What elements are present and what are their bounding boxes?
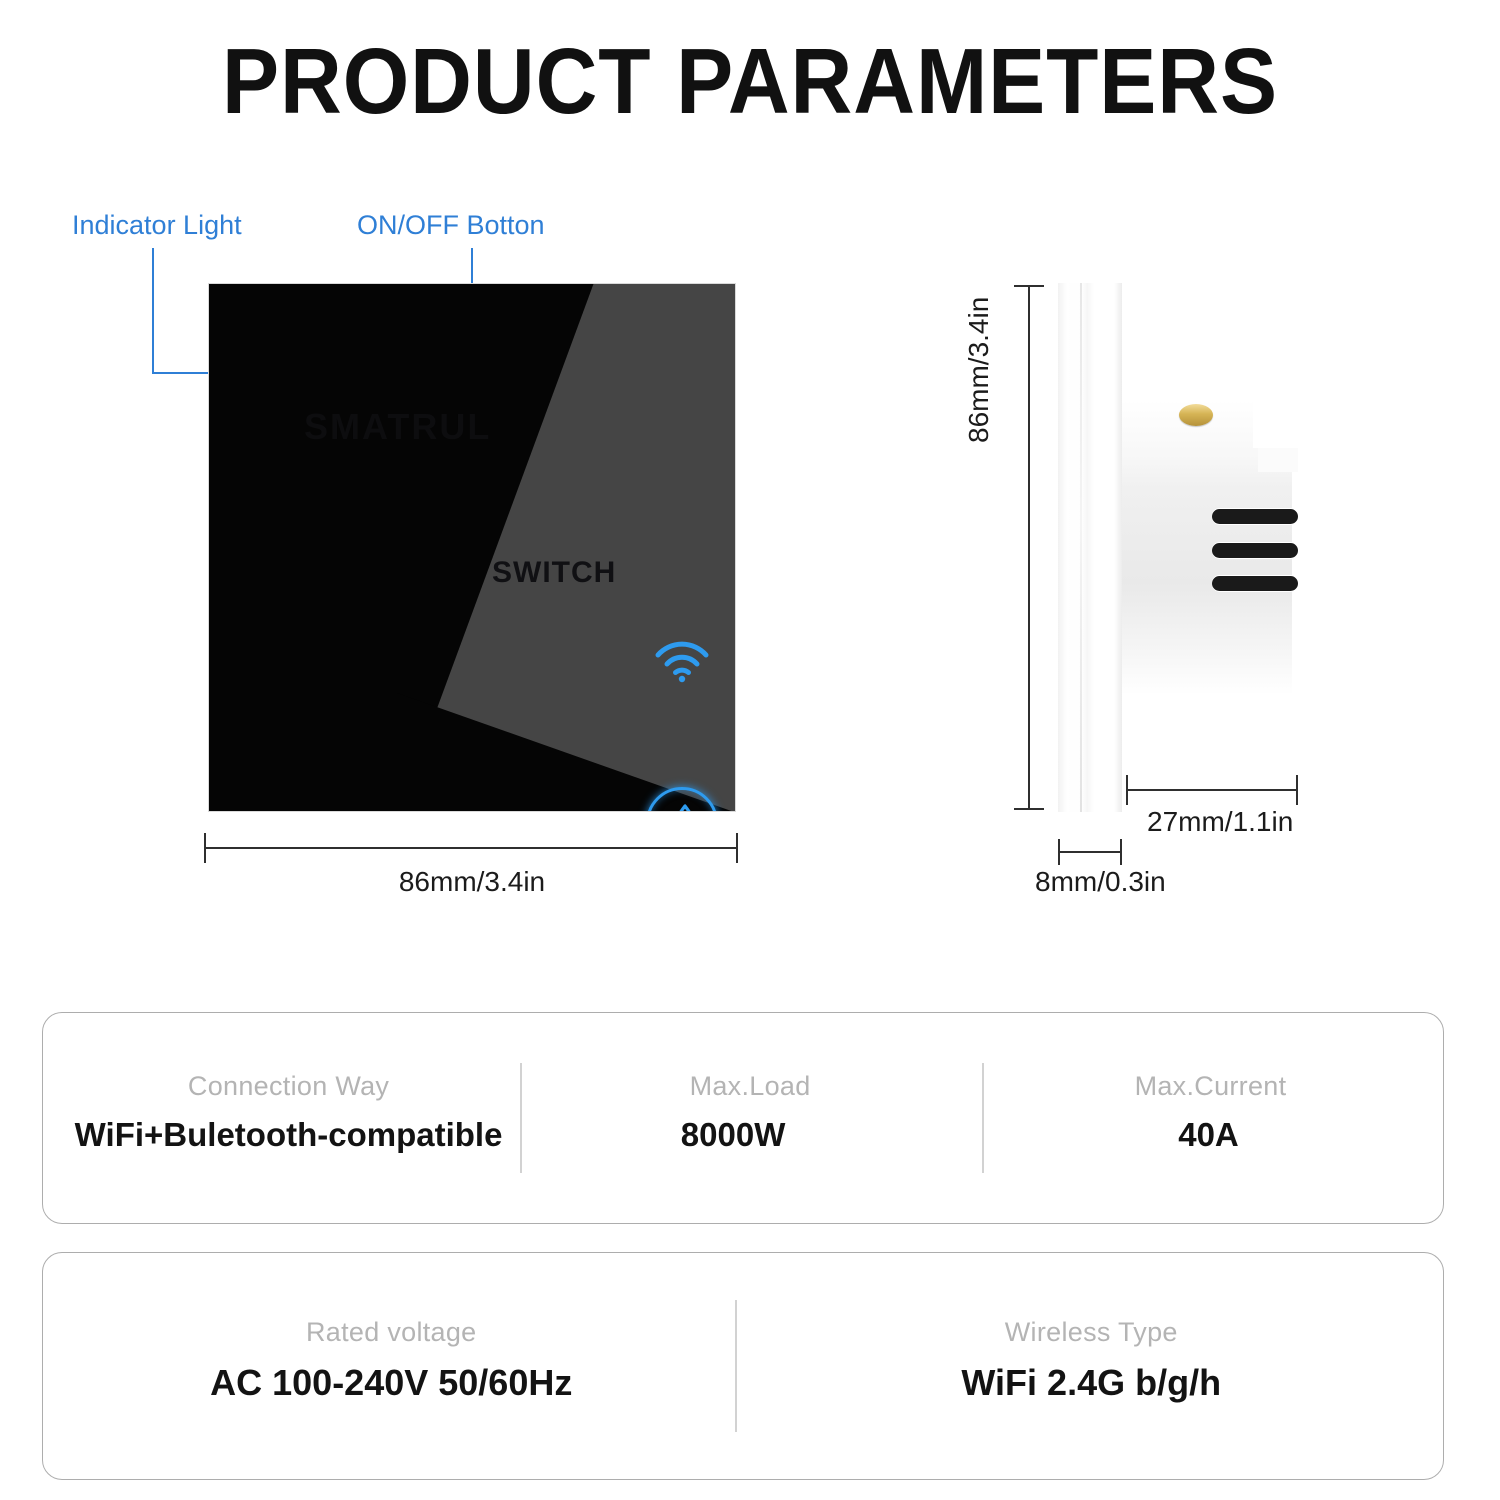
vent-slot-icon <box>1212 543 1298 558</box>
annotation-label-indicator-light: Indicator Light <box>72 210 242 241</box>
spec-cell-connection-way: Connection Way WiFi+Buletooth-compatible <box>43 1013 534 1223</box>
infographic-canvas: PRODUCT PARAMETERS Indicator Light ON/OF… <box>0 0 1500 1500</box>
spec-label: Max.Load <box>690 1071 811 1102</box>
dimension-cap-left <box>204 833 206 863</box>
dimension-cap-top <box>1014 285 1044 287</box>
spec-row: Connection Way WiFi+Buletooth-compatible… <box>43 1013 1443 1223</box>
brand-wordmark: SMATRUL <box>304 406 491 448</box>
wifi-icon <box>652 639 712 683</box>
dimension-cap-right <box>1296 775 1298 805</box>
spec-label: Connection Way <box>188 1071 389 1102</box>
water-drop-icon <box>666 803 704 812</box>
glass-reflection <box>209 284 735 811</box>
spec-value: 8000W <box>681 1116 786 1154</box>
leader-line-indicator-vertical <box>152 248 154 374</box>
vent-slot-icon <box>1212 509 1298 524</box>
switch-side-faceplate <box>1058 283 1122 812</box>
switch-side-body-step <box>1258 448 1298 472</box>
brand-wordmark-sub: SWITCH <box>492 556 616 590</box>
dimension-label-body-depth: 27mm/1.1in <box>1147 806 1293 838</box>
annotation-label-onoff-button: ON/OFF Botton <box>357 210 545 241</box>
dimension-cap-left <box>1058 839 1060 865</box>
dimension-cap-right <box>1120 839 1122 865</box>
dimension-line-side-height <box>1028 285 1030 810</box>
page-title: PRODUCT PARAMETERS <box>60 30 1440 132</box>
dimension-line-front-width <box>204 847 738 849</box>
spec-value: WiFi 2.4G b/g/h <box>961 1362 1221 1404</box>
switch-side-body-notch <box>1253 400 1295 448</box>
spec-cell-rated-voltage: Rated voltage AC 100-240V 50/60Hz <box>43 1253 739 1479</box>
dimension-line-plate-thickness <box>1058 851 1122 853</box>
spec-cell-divider <box>520 1063 522 1173</box>
spec-label: Max.Current <box>1135 1071 1287 1102</box>
spec-cell-max-load: Max.Load 8000W <box>534 1013 984 1223</box>
dimension-cap-left <box>1126 775 1128 805</box>
dimension-line-body-depth <box>1126 789 1298 791</box>
spec-cell-divider <box>982 1063 984 1173</box>
dimension-label-plate-thickness: 8mm/0.3in <box>1035 866 1166 898</box>
dimension-label-front-width: 86mm/3.4in <box>0 866 944 898</box>
faceplate-seam <box>1080 283 1082 812</box>
switch-front-panel: SMATRUL SWITCH <box>208 283 736 812</box>
spec-cell-divider <box>735 1300 737 1432</box>
spec-label: Rated voltage <box>306 1317 477 1348</box>
spec-card-primary: Connection Way WiFi+Buletooth-compatible… <box>42 1012 1444 1224</box>
dimension-cap-bottom <box>1014 808 1044 810</box>
spec-label: Wireless Type <box>1005 1317 1178 1348</box>
dimension-cap-right <box>736 833 738 863</box>
spec-cell-wireless-type: Wireless Type WiFi 2.4G b/g/h <box>739 1253 1443 1479</box>
spec-row: Rated voltage AC 100-240V 50/60Hz Wirele… <box>43 1253 1443 1479</box>
dimension-label-side-height: 86mm/3.4in <box>963 297 995 443</box>
spec-value: AC 100-240V 50/60Hz <box>210 1362 572 1404</box>
spec-card-secondary: Rated voltage AC 100-240V 50/60Hz Wirele… <box>42 1252 1444 1480</box>
spec-value: 40A <box>1178 1116 1239 1154</box>
screw-icon <box>1179 404 1213 426</box>
vent-slot-icon <box>1212 576 1298 591</box>
spec-value: WiFi+Buletooth-compatible <box>75 1116 503 1154</box>
spec-cell-max-current: Max.Current 40A <box>984 1013 1443 1223</box>
